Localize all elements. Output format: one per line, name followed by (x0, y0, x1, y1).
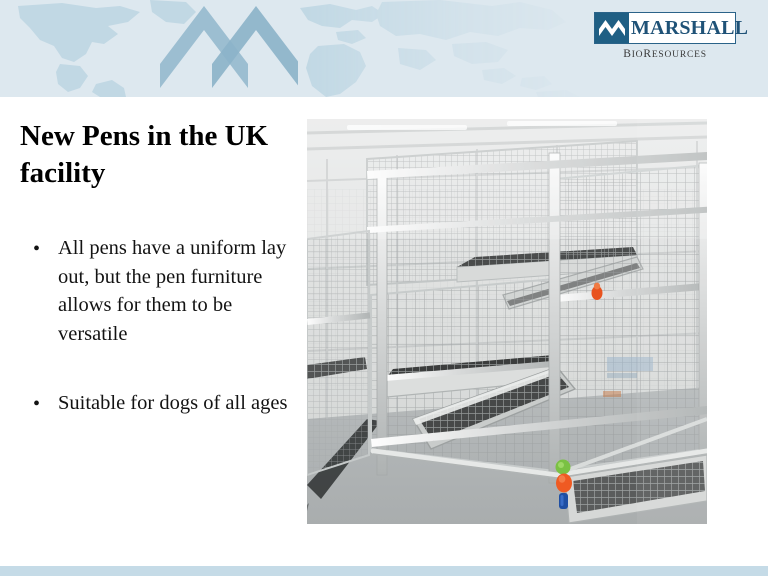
bullet-item-2: • Suitable for dogs of all ages (26, 389, 302, 418)
footer-band (0, 566, 768, 576)
bullet-marker-icon: • (33, 390, 40, 418)
bullet-item-1: • All pens have a uniform lay out, but t… (26, 234, 302, 349)
logo-wordmark: MARSHALL (629, 13, 748, 43)
logo-tagline-b: B (623, 48, 631, 60)
bullet-text-2: Suitable for dogs of all ages (58, 392, 287, 414)
logo-tagline: BIORESOURCES (594, 48, 736, 60)
slide-title: New Pens in the UK facility (20, 118, 290, 192)
marshall-bioresources-logo: MARSHALL BIORESOURCES (594, 12, 736, 60)
bullet-text-1: All pens have a uniform lay out, but the… (58, 237, 286, 345)
bullet-list: • All pens have a uniform lay out, but t… (26, 234, 302, 417)
slide: MARSHALL BIORESOURCES New Pens in the UK… (0, 0, 768, 576)
logo-tagline-esources: ESOURCES (652, 50, 707, 60)
bullet-marker-icon: • (33, 235, 40, 263)
chevron-emblem-icon (118, 0, 298, 97)
logo-tagline-r: R (643, 48, 651, 60)
double-chevron-mark-icon (595, 13, 629, 43)
logo-tagline-io: IO (632, 50, 644, 60)
logo-lockup: MARSHALL (594, 12, 736, 44)
kennel-photo (307, 119, 707, 524)
header-band: MARSHALL BIORESOURCES (0, 0, 768, 97)
